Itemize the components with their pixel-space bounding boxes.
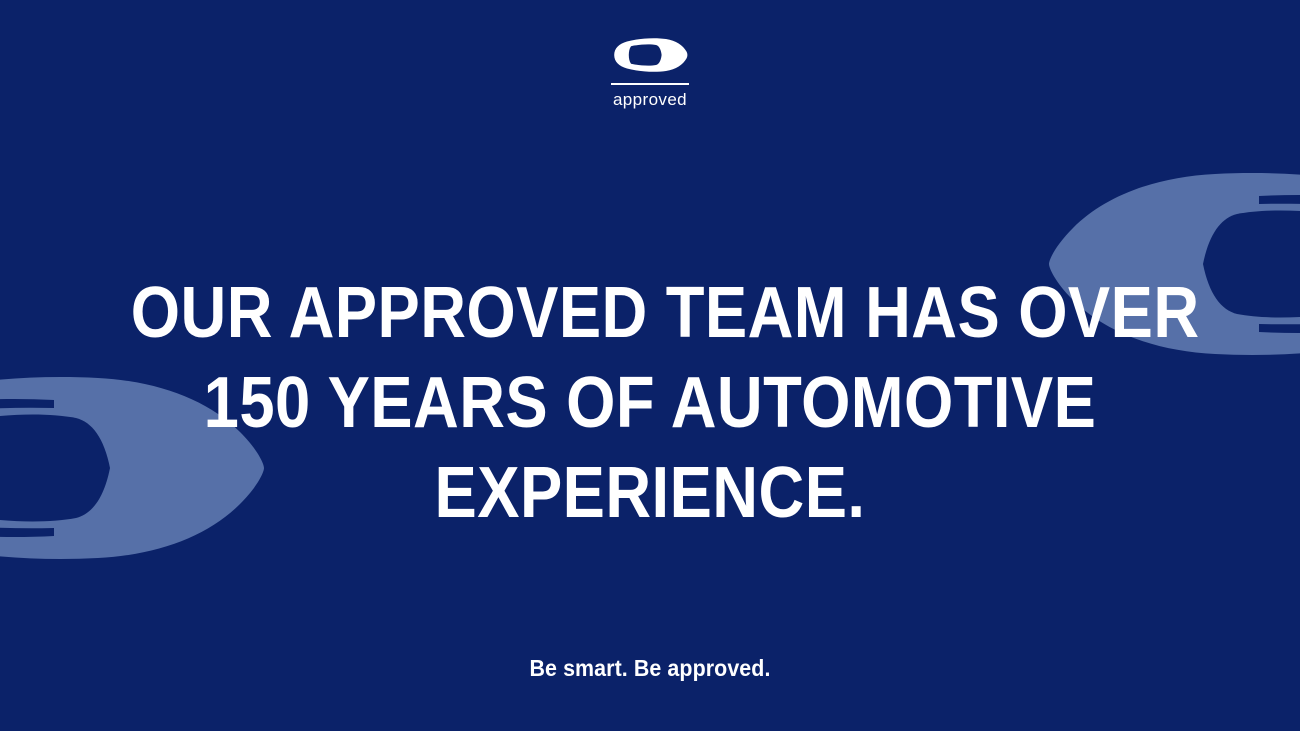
headline-line-3: EXPERIENCE. — [131, 448, 1169, 538]
logo-wordmark: approved — [613, 91, 687, 108]
brand-logo: approved — [0, 36, 1300, 108]
headline-line-2: 150 YEARS OF AUTOMOTIVE — [131, 358, 1169, 448]
headline: OUR APPROVED TEAM HAS OVER 150 YEARS OF … — [60, 268, 1240, 538]
tagline: Be smart. Be approved. — [46, 655, 1255, 682]
logo-divider — [611, 83, 689, 85]
car-top-view-icon — [611, 36, 689, 74]
slide-canvas: approved OUR APPROVED TEAM HAS OVER 150 … — [0, 0, 1300, 731]
headline-line-1: OUR APPROVED TEAM HAS OVER — [131, 268, 1169, 358]
